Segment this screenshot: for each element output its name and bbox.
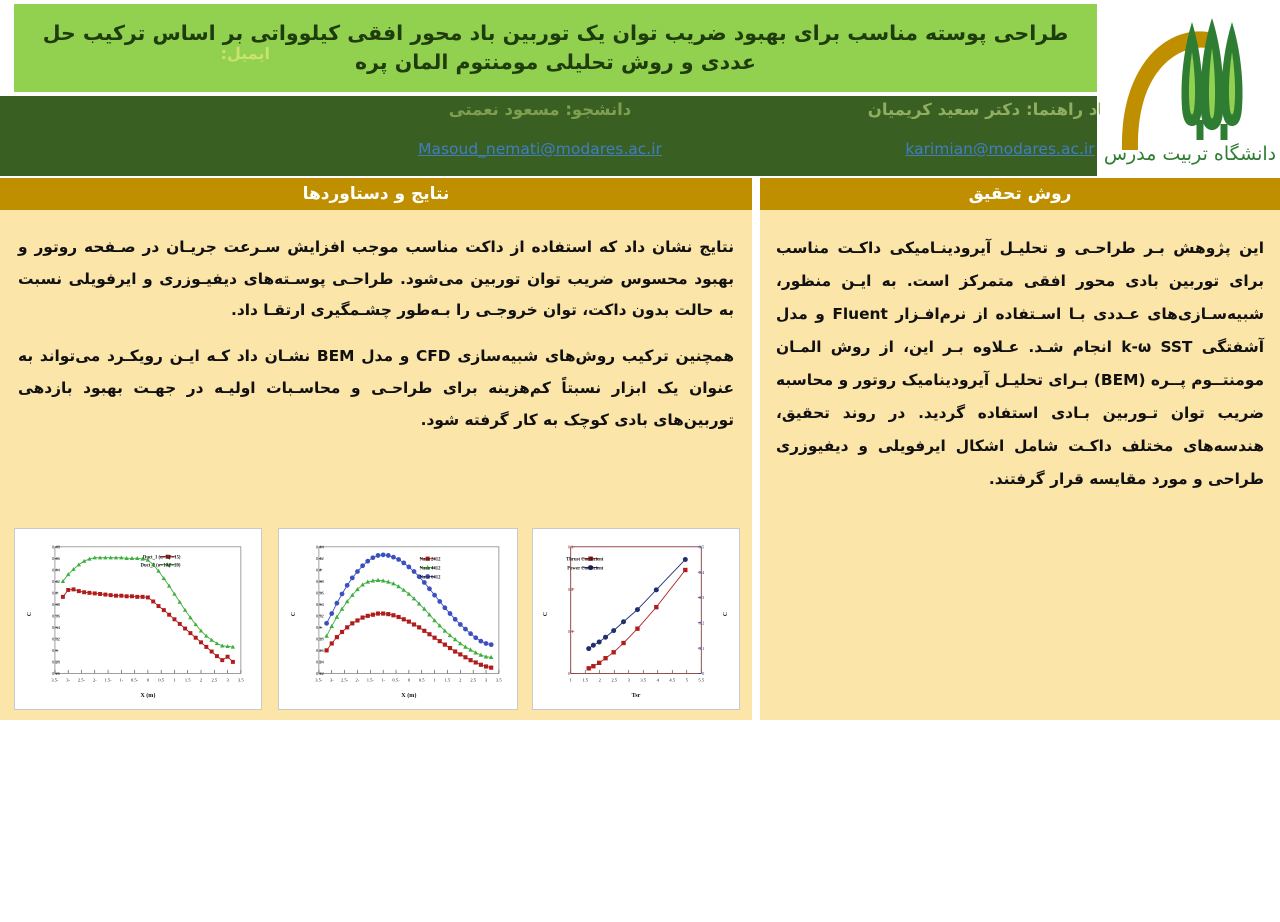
data-point <box>474 660 478 664</box>
data-point <box>114 594 118 598</box>
data-point <box>386 612 390 616</box>
chart-naca-cp-graphic: -3.5-3-2.5-2-1.5-1-0.500.511.522.533.50.… <box>279 529 517 709</box>
university-logo-graphic: دانشگاه تربیت مدرس <box>1100 0 1280 176</box>
data-point <box>442 605 447 610</box>
x-tick-label: -1 <box>119 677 123 682</box>
data-point <box>402 617 406 621</box>
data-point <box>479 663 483 667</box>
chart-thrust-power: 11.522.533.544.555.500.10.20.300.10.20.3… <box>532 528 740 710</box>
data-point <box>381 611 385 615</box>
data-point <box>370 555 375 560</box>
data-point <box>401 561 406 566</box>
section-header-results: نتایج و دستاوردها <box>0 178 752 210</box>
data-point <box>432 593 437 598</box>
section-header-method: روش تحقیق <box>760 178 1280 210</box>
column-method: این پژوهش بـر طراحـی و تحلیـل آیرودینـام… <box>760 210 1280 720</box>
data-point <box>188 631 192 635</box>
data-point <box>376 611 380 615</box>
data-point <box>635 607 640 612</box>
data-point <box>355 618 359 622</box>
results-paragraph-1: نتایج نشان داد که استفاده از داکت مناسب … <box>18 232 734 327</box>
data-point <box>172 617 176 621</box>
legend-label: Thrust Coefficient <box>566 557 604 562</box>
x-tick-label: -1 <box>381 677 385 682</box>
x-tick-label: 1 <box>570 677 572 682</box>
x-tick-label: 3.5 <box>640 677 646 682</box>
x-tick-label: 4.5 <box>669 677 675 682</box>
x-tick-label: -2.5 <box>78 677 86 682</box>
x-tick-label: 2.5 <box>611 677 617 682</box>
data-point <box>489 666 493 670</box>
chart3-xlabel: Tsr <box>632 693 641 699</box>
data-point <box>654 605 658 609</box>
x-tick-label: 1 <box>433 677 435 682</box>
y-tick-label: 0.46 <box>52 556 61 561</box>
data-point <box>371 613 375 617</box>
y-tick-label: 0.36 <box>52 614 61 619</box>
y-tick-label: 0.34 <box>52 625 61 630</box>
chart1-xlabel: X (m) <box>140 692 155 699</box>
x-tick-label: -3 <box>330 677 334 682</box>
data-point <box>683 568 687 572</box>
data-point <box>453 617 458 622</box>
data-point <box>611 650 615 654</box>
data-point <box>204 645 208 649</box>
data-point <box>334 601 339 606</box>
data-point <box>683 557 688 562</box>
student-name: دانشجو: مسعود نعمتی <box>320 100 760 119</box>
data-point <box>103 593 107 597</box>
data-point <box>167 613 171 617</box>
x-tick-label: -3 <box>66 677 70 682</box>
data-point <box>654 587 659 592</box>
data-point <box>603 635 608 640</box>
data-point <box>478 639 483 644</box>
data-point <box>151 599 155 603</box>
data-point <box>397 615 401 619</box>
data-point <box>360 563 365 568</box>
data-point <box>215 654 219 658</box>
data-point <box>635 626 639 630</box>
data-point <box>407 620 411 624</box>
chart3-ylabel-right: C <box>723 612 729 616</box>
data-point <box>162 608 166 612</box>
data-point <box>194 636 198 640</box>
data-point <box>178 622 182 626</box>
section-title-results: نتایج و دستاوردها <box>303 184 450 204</box>
data-point <box>130 594 134 598</box>
data-point <box>489 642 494 647</box>
y-tick-label-right: 0.4 <box>699 570 705 575</box>
data-point <box>458 622 463 627</box>
y-tick-label: 0.26 <box>52 671 61 676</box>
data-point <box>109 593 113 597</box>
legend-label: Duct_1 (α=5,β=15) <box>143 555 181 560</box>
data-point <box>443 643 447 647</box>
data-point <box>484 664 488 668</box>
data-point <box>473 635 478 640</box>
data-point <box>98 592 102 596</box>
y-tick-label: 0.38 <box>52 602 61 607</box>
email-label: ایمیل: <box>221 44 270 63</box>
data-point <box>340 592 345 597</box>
data-point <box>463 655 467 659</box>
y-tick-label: 0.32 <box>52 637 61 642</box>
data-point <box>453 649 457 653</box>
y-tick-label: 0.44 <box>52 568 61 573</box>
data-point <box>324 621 329 626</box>
data-point <box>141 595 145 599</box>
data-point <box>597 639 602 644</box>
data-point <box>350 621 354 625</box>
x-tick-label: -0.5 <box>131 677 139 682</box>
x-tick-label: -3.5 <box>315 677 323 682</box>
y-tick-label: 0.3 <box>568 545 574 550</box>
data-point <box>468 631 473 636</box>
data-point <box>361 616 365 620</box>
data-point <box>157 604 161 608</box>
chart-duct-cp: -3.5-3-2.5-2-1.5-1-0.500.511.522.533.50.… <box>14 528 262 710</box>
y-tick-label-right: 0.1 <box>699 646 705 651</box>
data-point <box>433 636 437 640</box>
data-point <box>484 641 489 646</box>
data-point <box>329 611 334 616</box>
x-tick-label: 1 <box>173 677 175 682</box>
data-point <box>386 553 391 558</box>
data-point <box>417 625 421 629</box>
data-point <box>611 628 616 633</box>
y-tick-label: 0.3 <box>52 648 58 653</box>
data-point <box>422 580 427 585</box>
x-tick-label: 2.5 <box>211 677 217 682</box>
data-point <box>330 641 334 645</box>
data-point <box>72 587 76 591</box>
data-point <box>77 589 81 593</box>
x-tick-label: 1.5 <box>445 677 451 682</box>
chart-naca-cp: -3.5-3-2.5-2-1.5-1-0.500.511.522.533.50.… <box>278 528 518 710</box>
y-tick-label-right: 0.5 <box>699 545 705 550</box>
poster-title-band: طراحی پوسته مناسب برای بهبود ضریب توان ی… <box>14 4 1097 92</box>
x-tick-label: 1.5 <box>185 677 191 682</box>
x-tick-label: 0.5 <box>158 677 164 682</box>
y-tick-label: 0.28 <box>316 637 325 642</box>
y-tick-label-right: 0.3 <box>699 595 705 600</box>
data-point <box>345 583 350 588</box>
data-point <box>412 622 416 626</box>
data-point <box>586 646 591 651</box>
data-point <box>587 666 591 670</box>
data-point <box>448 611 453 616</box>
data-point <box>355 569 360 574</box>
y-tick-label: 0.4 <box>52 591 58 596</box>
page-title: طراحی پوسته مناسب برای بهبود ضریب توان ی… <box>24 19 1087 77</box>
x-tick-label: 5.5 <box>698 677 704 682</box>
y-tick-label: 0.32 <box>316 614 325 619</box>
data-point <box>597 661 601 665</box>
x-tick-label: -2.5 <box>341 677 349 682</box>
y-tick-label: 0.3 <box>316 625 322 630</box>
data-point <box>345 625 349 629</box>
data-point <box>412 569 417 574</box>
data-point <box>391 613 395 617</box>
y-tick-label: 0.36 <box>316 591 325 596</box>
data-point <box>591 664 595 668</box>
data-point <box>183 627 187 631</box>
y-tick-label-right: 0.2 <box>699 621 705 626</box>
x-tick-label: -1.5 <box>104 677 112 682</box>
data-point <box>87 591 91 595</box>
results-paragraph-2: همچنین ترکیب روش‌های شبیه‌سازی CFD و مدل… <box>18 341 734 436</box>
data-point <box>82 590 86 594</box>
chart1-ylabel: C <box>27 612 33 616</box>
legend-label: Power Coefficient <box>567 566 603 571</box>
x-tick-label: 0.5 <box>419 677 425 682</box>
legend-label: Naca 4412 <box>420 566 442 571</box>
x-tick-label: -2 <box>356 677 360 682</box>
student-email-link[interactable]: Masoud_nemati@modares.ac.ir <box>320 140 760 158</box>
x-tick-label: 2.5 <box>470 677 476 682</box>
data-point <box>350 575 355 580</box>
data-point <box>458 652 462 656</box>
y-tick-label: 0.26 <box>316 648 325 653</box>
y-tick-label: 0.1 <box>568 629 574 634</box>
poster-canvas: طراحی پوسته مناسب برای بهبود ضریب توان ی… <box>0 0 1280 720</box>
data-point <box>621 641 625 645</box>
data-point <box>366 614 370 618</box>
y-tick-label: 0.22 <box>316 671 325 676</box>
data-point <box>325 648 329 652</box>
y-tick-label: 0.42 <box>52 579 61 584</box>
data-point <box>591 643 596 648</box>
logo-caption: دانشگاه تربیت مدرس <box>1104 142 1276 165</box>
x-tick-label: -1.5 <box>367 677 375 682</box>
data-point <box>146 595 150 599</box>
chart2-ylabel: C <box>291 612 297 616</box>
data-point <box>335 635 339 639</box>
results-body: نتایج نشان داد که استفاده از داکت مناسب … <box>18 232 734 450</box>
data-point <box>199 640 203 644</box>
data-point <box>438 639 442 643</box>
data-point <box>93 591 97 595</box>
data-point <box>135 595 139 599</box>
data-point <box>231 660 235 664</box>
data-point <box>220 658 224 662</box>
x-tick-label: -2 <box>93 677 97 682</box>
data-point <box>469 658 473 662</box>
data-point <box>391 555 396 560</box>
data-point <box>396 557 401 562</box>
chart-thrust-power-graphic: 11.522.533.544.555.500.10.20.300.10.20.3… <box>533 529 739 709</box>
data-point <box>621 619 626 624</box>
y-tick-label: 0.28 <box>52 660 61 665</box>
y-tick-label: 0.2 <box>568 587 574 592</box>
data-point <box>406 565 411 570</box>
x-tick-label: -3.5 <box>51 677 59 682</box>
data-point <box>340 630 344 634</box>
y-tick-label: 0.24 <box>316 660 325 665</box>
data-point <box>125 594 129 598</box>
data-point <box>603 656 607 660</box>
method-body: این پژوهش بـر طراحـی و تحلیـل آیرودینـام… <box>776 232 1264 508</box>
data-point <box>427 632 431 636</box>
data-point <box>427 586 432 591</box>
university-logo: دانشگاه تربیت مدرس <box>1100 0 1280 176</box>
y-tick-label: 0.44 <box>316 545 325 550</box>
data-point <box>437 599 442 604</box>
data-point <box>66 588 70 592</box>
y-tick-label: 0.38 <box>316 579 325 584</box>
data-point <box>463 627 468 632</box>
data-point <box>226 655 230 659</box>
legend-label: Naca 6412 <box>420 575 442 580</box>
x-tick-label: 3.5 <box>496 677 502 682</box>
legend-label: Duct_2 (α=10,β=20) <box>141 563 181 568</box>
data-point <box>376 553 381 558</box>
data-point <box>119 594 123 598</box>
x-tick-label: -0.5 <box>392 677 400 682</box>
y-tick-label: 0.34 <box>316 602 325 607</box>
x-tick-label: 1.5 <box>582 677 588 682</box>
data-point <box>210 650 214 654</box>
method-paragraph-1: این پژوهش بـر طراحـی و تحلیـل آیرودینـام… <box>776 232 1264 496</box>
legend-label: Naca 2412 <box>420 557 442 562</box>
section-title-method: روش تحقیق <box>969 184 1072 204</box>
chart3-ylabel-left: C <box>543 612 549 616</box>
chart-duct-cp-graphic: -3.5-3-2.5-2-1.5-1-0.500.511.522.533.50.… <box>15 529 261 709</box>
y-tick-label: 0.48 <box>52 545 61 550</box>
column-divider <box>752 210 760 720</box>
data-point <box>422 629 426 633</box>
data-point <box>381 552 386 557</box>
x-tick-label: 3.5 <box>238 677 244 682</box>
chart2-xlabel: X (m) <box>401 692 416 699</box>
y-tick-label: 0.4 <box>316 568 322 573</box>
y-tick-label: 0.42 <box>316 556 325 561</box>
data-point <box>365 559 370 564</box>
data-point <box>448 646 452 650</box>
data-point <box>61 595 65 599</box>
